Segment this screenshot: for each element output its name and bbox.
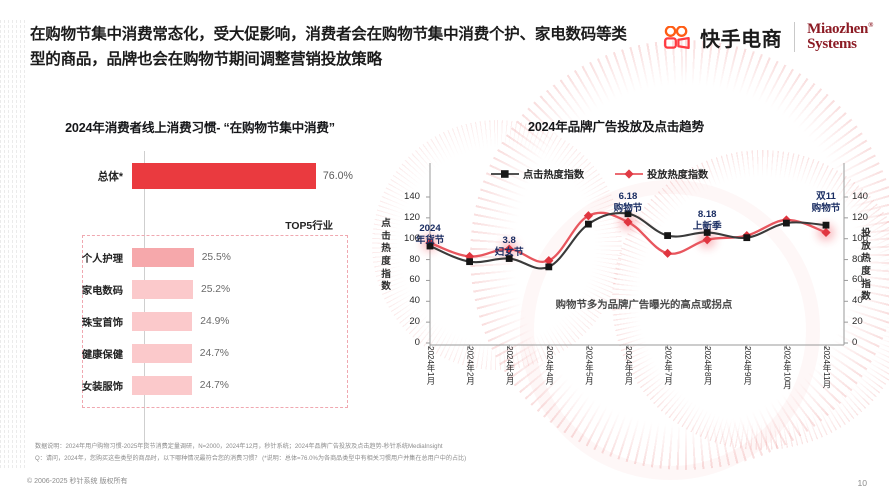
industry-bar	[132, 280, 193, 299]
y2-tick-label: 80	[852, 254, 878, 265]
industry-bar-row: 女装服饰24.7%	[42, 374, 362, 396]
chart-inside-note: 购物节多为品牌广告曝光的高点或拐点	[504, 296, 784, 311]
industry-bar	[132, 312, 192, 331]
industry-value: 24.7%	[200, 348, 229, 359]
y2-tick-label: 40	[852, 295, 878, 306]
miaozhen-logo-line1: Miaozhen	[807, 21, 868, 37]
x-tick-label: 2024年11月	[821, 346, 833, 389]
kuaishou-camera-icon	[663, 26, 693, 49]
brand-logos: 快手电商 Miaozhen® Systems	[663, 22, 873, 53]
overall-label: 总体*	[42, 169, 132, 184]
x-tick-label: 2024年2月	[465, 346, 477, 385]
industry-value: 25.2%	[201, 284, 230, 295]
overall-bar	[132, 163, 316, 189]
footnote-line-1: 数据说明：2024年用户购物习惯-2025年货节消费定量调研，N=2000，20…	[35, 441, 735, 452]
x-tick-label: 2024年8月	[702, 346, 714, 385]
footnote-line-2: Q：请问，2024年，您购买这些类型的商品时，以下哪种情况最符合您的消费习惯？ …	[35, 453, 735, 464]
left-chart-title: 2024年消费者线上消费习惯- “在购物节集中消费”	[50, 117, 350, 136]
industry-value: 24.9%	[200, 316, 229, 327]
left-axis-title: 点击热度指数	[380, 218, 392, 294]
chart-annotation: 3.8妇女节	[485, 235, 533, 259]
y2-tick-label: 100	[852, 233, 878, 244]
y-tick-label: 20	[394, 316, 420, 327]
industry-label: 个人护理	[42, 250, 132, 265]
top5-section-label: TOP5行业	[285, 217, 333, 232]
industry-bar-row: 珠宝首饰24.9%	[42, 310, 362, 332]
dashed-edge-decoration	[0, 18, 26, 470]
page-title: 在购物节集中消费常态化，受大促影响，消费者会在购物节集中消费个护、家电数码等类型…	[30, 22, 630, 72]
industry-bar	[132, 248, 194, 267]
overall-bar-row: 总体* 76.0%	[42, 161, 362, 191]
x-tick-label: 2024年3月	[504, 346, 516, 385]
y2-tick-label: 140	[852, 191, 878, 202]
y2-tick-label: 120	[852, 212, 878, 223]
y-tick-label: 120	[394, 212, 420, 223]
chart-annotation: 双11购物节	[802, 191, 850, 215]
industry-bar-row: 个人护理25.5%	[42, 246, 362, 268]
y-tick-label: 0	[394, 337, 420, 348]
industry-bar-row: 家电数码25.2%	[42, 278, 362, 300]
y2-tick-label: 20	[852, 316, 878, 327]
x-tick-label: 2024年7月	[663, 346, 675, 385]
left-chart-panel: 2024年消费者线上消费习惯- “在购物节集中消费” 总体* 76.0% TOP…	[30, 103, 367, 420]
x-tick-label: 2024年6月	[623, 346, 635, 385]
kuaishou-logo: 快手电商	[663, 23, 782, 52]
y-tick-label: 100	[394, 233, 420, 244]
industry-label: 女装服饰	[42, 378, 132, 393]
chart-annotation: 6.18购物节	[604, 191, 652, 215]
y-tick-label: 80	[394, 254, 420, 265]
industry-bar-row: 健康保健24.7%	[42, 342, 362, 364]
x-tick-label: 2024年10月	[781, 346, 793, 389]
overall-value: 76.0%	[323, 170, 353, 182]
y2-tick-label: 0	[852, 337, 878, 348]
industry-label: 健康保健	[42, 346, 132, 361]
x-tick-label: 2024年9月	[742, 346, 754, 385]
slide-root: 在购物节集中消费常态化，受大促影响，消费者会在购物节集中消费个护、家电数码等类型…	[0, 0, 889, 500]
y-tick-label: 140	[394, 191, 420, 202]
chart-annotation: 8.18上新季	[683, 209, 731, 233]
industry-label: 珠宝首饰	[42, 314, 132, 329]
industry-value: 25.5%	[202, 252, 231, 263]
y-tick-label: 60	[394, 274, 420, 285]
footnote-block: 数据说明：2024年用户购物习惯-2025年货节消费定量调研，N=2000，20…	[35, 441, 735, 464]
industry-label: 家电数码	[42, 282, 132, 297]
trademark-symbol: ®	[868, 21, 873, 29]
industry-value: 24.7%	[200, 380, 229, 391]
industry-bar	[132, 344, 192, 363]
page-number: 10	[857, 478, 867, 488]
right-chart-panel: 2024年品牌广告投放及点击趋势 点击热度指数 投放热度指数 点击热度指数 投放…	[386, 103, 876, 423]
miaozhen-logo-line2: Systems	[807, 37, 873, 52]
industry-bar	[132, 376, 192, 395]
x-tick-label: 2024年4月	[544, 346, 556, 385]
logo-divider	[794, 22, 795, 52]
kuaishou-logo-text: 快手电商	[700, 23, 782, 52]
x-tick-label: 2024年5月	[583, 346, 595, 385]
miaozhen-logo: Miaozhen® Systems	[807, 22, 873, 53]
y2-tick-label: 60	[852, 274, 878, 285]
y-tick-label: 40	[394, 295, 420, 306]
x-tick-label: 2024年1月	[425, 346, 437, 385]
copyright-text: © 2006-2025 秒针系统 版权所有	[27, 476, 127, 486]
